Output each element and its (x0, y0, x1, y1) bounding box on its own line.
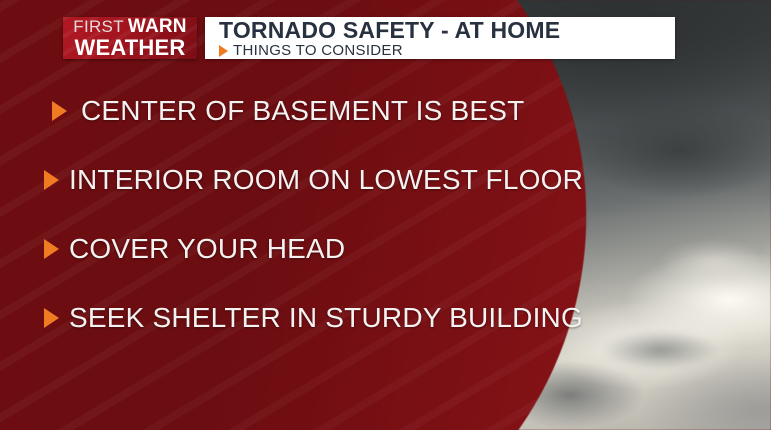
triangle-right-icon (219, 45, 228, 57)
triangle-right-icon (44, 170, 59, 190)
triangle-right-icon (44, 308, 59, 328)
logo-word-first: FIRST (73, 18, 124, 35)
first-warn-weather-logo: FIRST WARN WEATHER (63, 17, 197, 59)
list-item-label: SEEK SHELTER IN STURDY BUILDING (69, 302, 583, 334)
list-item-label: COVER YOUR HEAD (69, 233, 345, 265)
logo-word-warn: WARN (128, 17, 187, 36)
triangle-right-icon (52, 101, 67, 121)
page-subtitle: THINGS TO CONSIDER (233, 43, 403, 58)
list-item: SEEK SHELTER IN STURDY BUILDING (0, 283, 600, 352)
triangle-right-icon (44, 239, 59, 259)
list-item-label: INTERIOR ROOM ON LOWEST FLOOR (69, 164, 583, 196)
page-title: TORNADO SAFETY - AT HOME (219, 19, 675, 42)
list-item: CENTER OF BASEMENT IS BEST (0, 76, 600, 145)
logo-word-weather: WEATHER (75, 37, 186, 59)
title-bar: TORNADO SAFETY - AT HOME THINGS TO CONSI… (205, 17, 675, 59)
list-item: INTERIOR ROOM ON LOWEST FLOOR (0, 145, 600, 214)
logo-line-one: FIRST WARN (73, 17, 186, 36)
weather-graphic-stage: FIRST WARN WEATHER TORNADO SAFETY - AT H… (0, 0, 771, 430)
subtitle-row: THINGS TO CONSIDER (219, 43, 675, 58)
list-item-label: CENTER OF BASEMENT IS BEST (81, 95, 524, 127)
safety-tips-list: CENTER OF BASEMENT IS BEST INTERIOR ROOM… (0, 76, 600, 352)
list-item: COVER YOUR HEAD (0, 214, 600, 283)
